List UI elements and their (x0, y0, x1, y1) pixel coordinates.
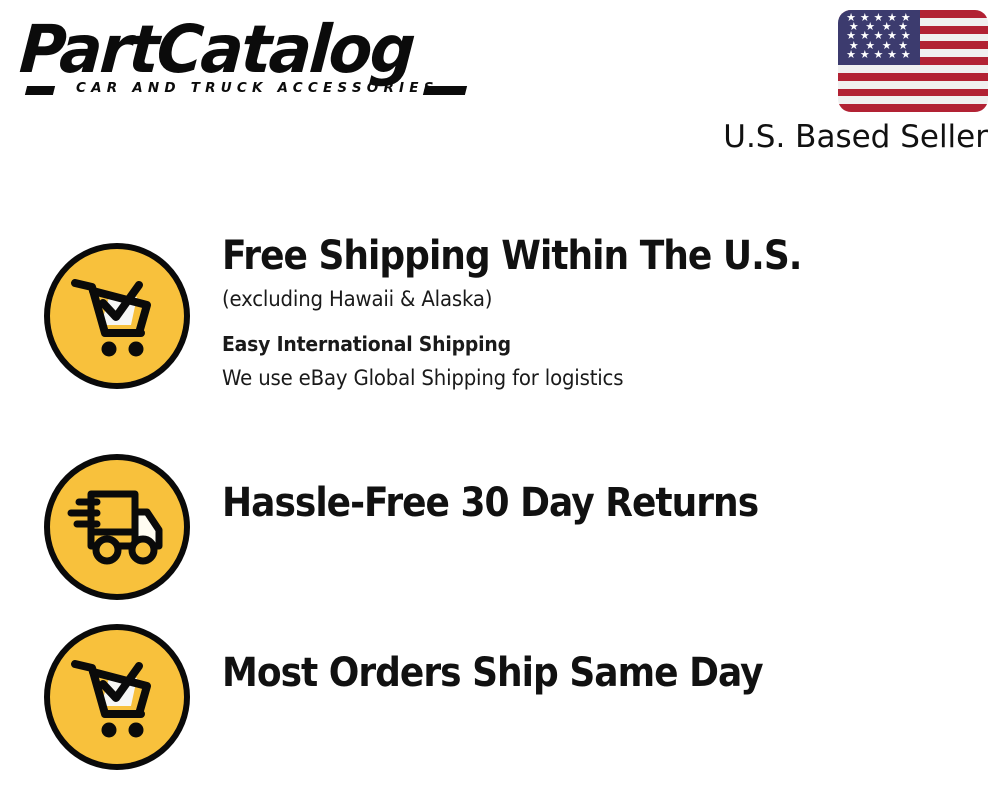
delivery-truck-icon (44, 454, 190, 600)
brand-tagline: CAR AND TRUCK ACCESSORIES (76, 80, 439, 96)
flag-star: ★ (874, 50, 884, 61)
brand-tagline-row: CAR AND TRUCK ACCESSORIES (26, 80, 492, 100)
feature-row: Most Orders Ship Same Day (0, 583, 1000, 755)
feature-heading: Free Shipping Within The U.S. (222, 232, 904, 280)
feature-heading: Hassle-Free 30 Day Returns (222, 479, 904, 527)
feature-heading: Most Orders Ship Same Day (222, 649, 904, 697)
shopping-cart-check-icon (44, 624, 190, 770)
seller-location-label: U.S. Based Seller (723, 118, 988, 156)
feature-text-block: Free Shipping Within The U.S. (excluding… (222, 232, 980, 394)
flag-star: ★ (887, 50, 897, 61)
tagline-rule-right-decoration (423, 86, 467, 95)
feature-sub-strong: Easy International Shipping (222, 329, 935, 360)
feature-text-block: Hassle-Free 30 Day Returns (222, 479, 980, 527)
tagline-rule-left-decoration (25, 86, 55, 95)
flag-stripe (838, 96, 988, 104)
brand-wordmark: PartCatalog (18, 18, 473, 82)
flag-stripe (838, 73, 988, 81)
feature-sub-note: (excluding Hawaii & Alaska) (222, 284, 935, 315)
feature-row: Hassle-Free 30 Day Returns (0, 413, 1000, 585)
flag-canton: ★★★★★★★★★★★★★★★★★★★★★★★ (838, 10, 920, 65)
shopping-cart-check-icon (44, 243, 190, 389)
flag-star: ★ (860, 50, 870, 61)
flag-stripe (838, 104, 988, 112)
flag-stripe (838, 81, 988, 89)
flag-star: ★ (846, 50, 856, 61)
page-header: PartCatalog CAR AND TRUCK ACCESSORIES ★★… (0, 0, 1000, 175)
flag-stripe (838, 65, 988, 73)
us-flag-icon: ★★★★★★★★★★★★★★★★★★★★★★★ (838, 10, 988, 112)
feature-text-block: Most Orders Ship Same Day (222, 649, 980, 697)
flag-stripe (838, 89, 988, 97)
flag-star: ★ (901, 50, 911, 61)
feature-sub-detail: We use eBay Global Shipping for logistic… (222, 363, 935, 394)
brand-logo[interactable]: PartCatalog CAR AND TRUCK ACCESSORIES (22, 18, 492, 100)
feature-row: Free Shipping Within The U.S. (excluding… (0, 232, 1000, 414)
